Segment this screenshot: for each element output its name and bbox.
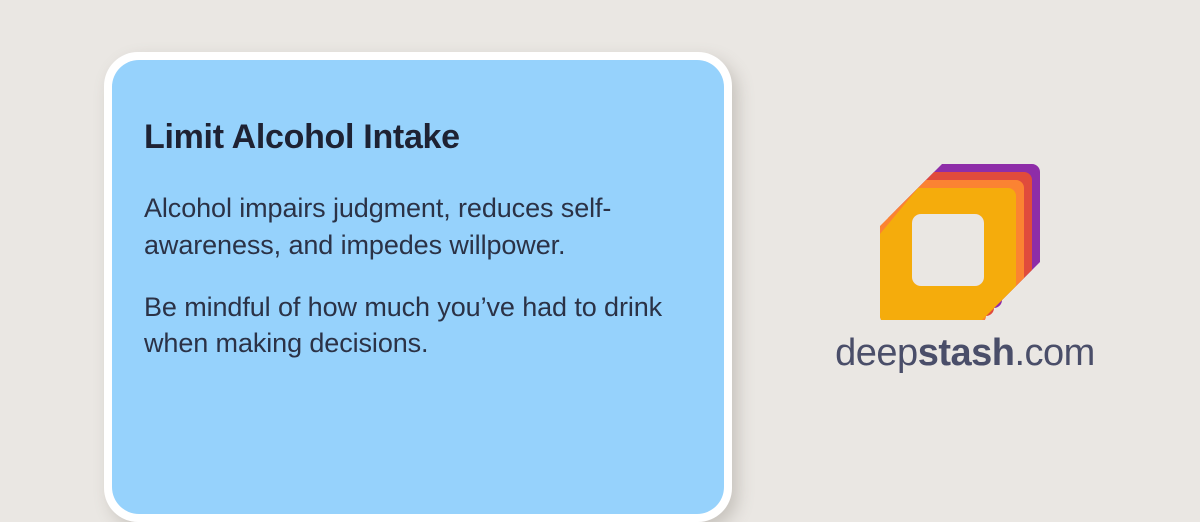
idea-card-surface: Limit Alcohol Intake Alcohol impairs jud… [112, 60, 724, 514]
screenshot-canvas: Limit Alcohol Intake Alcohol impairs jud… [0, 0, 1200, 501]
wordmark-prefix: deep [835, 332, 918, 374]
deepstash-cube-logo-icon [880, 150, 1050, 320]
idea-card[interactable]: Limit Alcohol Intake Alcohol impairs jud… [104, 52, 732, 522]
idea-card-title: Limit Alcohol Intake [144, 118, 680, 156]
wordmark-emphasis: stash [918, 332, 1015, 374]
brand-block: deepstash.com [790, 150, 1140, 372]
idea-card-paragraph: Alcohol impairs judgment, reduces self-a… [144, 190, 680, 263]
idea-card-paragraph: Be mindful of how much you’ve had to dri… [144, 289, 680, 362]
logo-inner-cutout [912, 214, 984, 286]
brand-wordmark[interactable]: deepstash.com [790, 334, 1140, 372]
wordmark-suffix: .com [1014, 332, 1094, 374]
